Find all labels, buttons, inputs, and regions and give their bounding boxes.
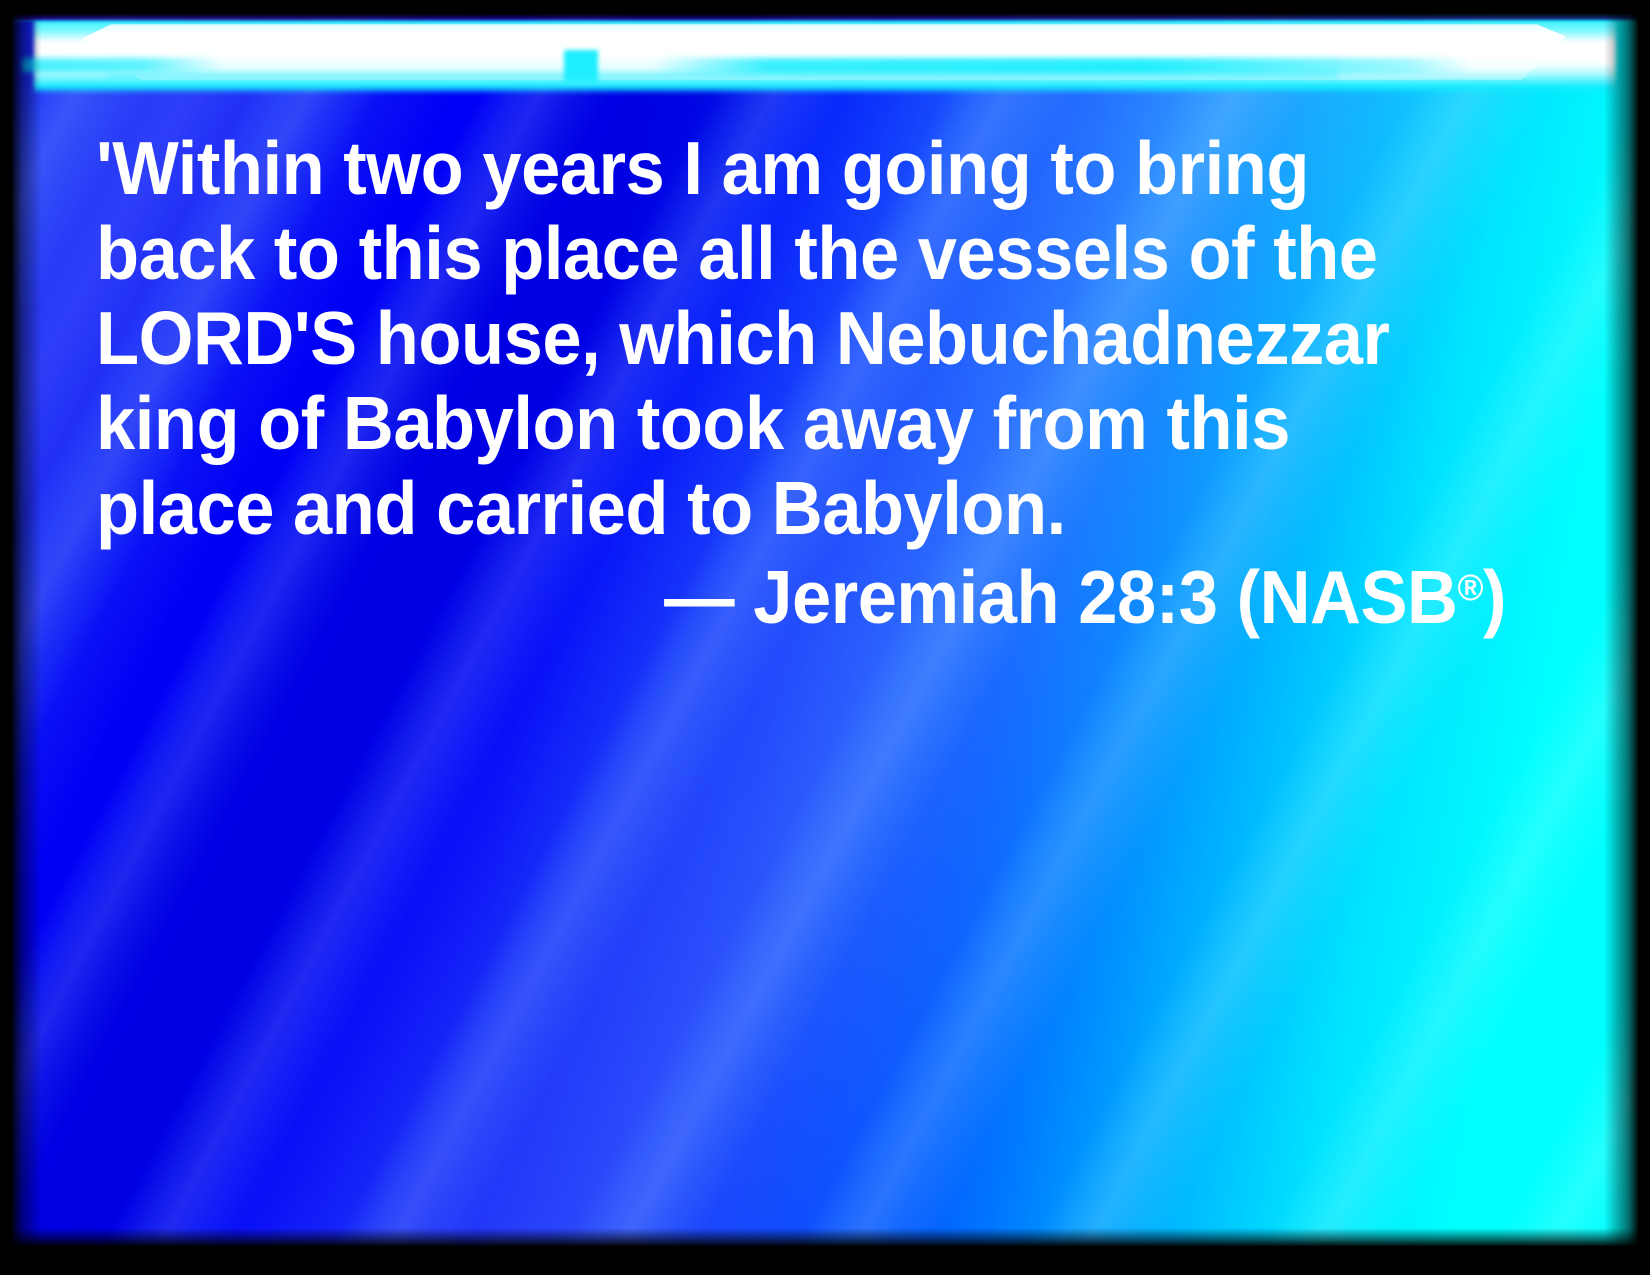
registered-trademark-icon: ® (1457, 566, 1483, 608)
attribution-reference: Jeremiah 28:3 (753, 555, 1217, 639)
attribution-version-open: (NASB (1237, 555, 1458, 639)
attribution-version-close: ) (1483, 555, 1506, 639)
verse-text: 'Within two years I am going to bring ba… (96, 126, 1421, 551)
verse-attribution: — Jeremiah 28:3 (NASB®) (181, 551, 1506, 643)
verse-block: 'Within two years I am going to bring ba… (96, 126, 1506, 643)
slide-panel: 'Within two years I am going to bring ba… (12, 14, 1638, 1246)
slide-canvas: 'Within two years I am going to bring ba… (0, 0, 1650, 1275)
attribution-em-dash: — (664, 555, 734, 639)
